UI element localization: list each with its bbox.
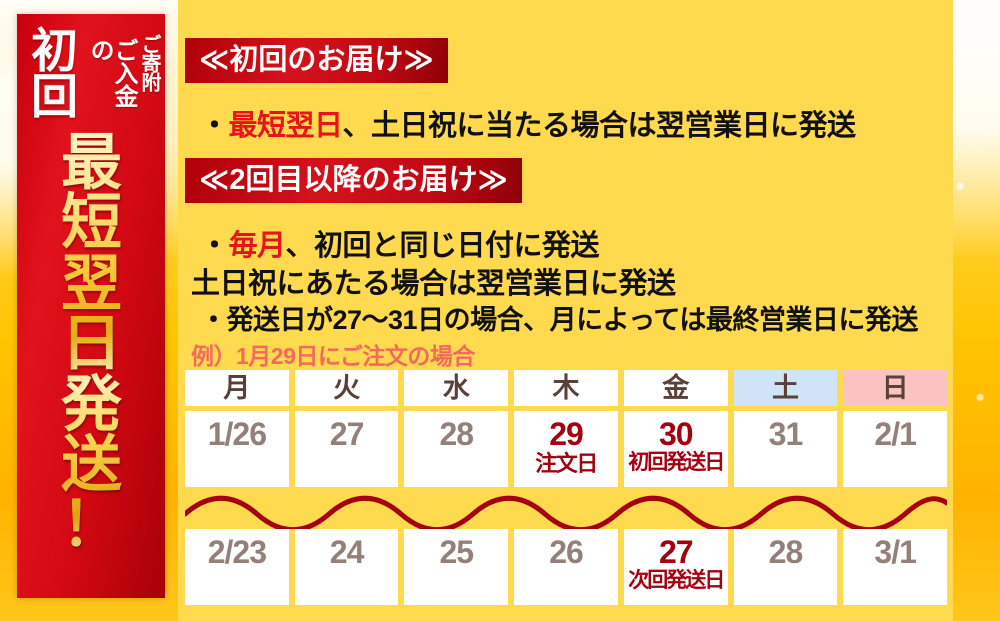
calendar-day-number: 30	[624, 417, 728, 452]
calendar-day-tag-first-shipment: 初回発送日	[624, 452, 728, 474]
weekday-header-fri: 金	[624, 370, 728, 406]
calendar-day-cell: 27	[295, 411, 399, 487]
calendar-day-number: 25	[404, 535, 508, 570]
calendar-day-number: 3/1	[843, 535, 947, 570]
calendar-week-row-2: 2/23 24 25 26 27 次回発送日	[185, 529, 947, 605]
calendar-day-number: 1/26	[185, 417, 289, 452]
headline-char-7: ！	[17, 494, 165, 554]
bullet-subsequent-delivery-3: ・発送日が27〜31日の場合、月によっては最終営業日に発送	[200, 298, 918, 337]
calendar-day-cell-next-shipment: 27 次回発送日	[624, 529, 728, 605]
calendar-day-cell: 3/1	[843, 529, 947, 605]
section-header-subsequent-delivery: ≪2回目以降のお届け≫	[185, 158, 522, 203]
calendar-day-cell: 28	[404, 411, 508, 487]
kicker-donation-label: ご寄附	[139, 34, 159, 91]
headline-char-2: 短	[17, 192, 165, 252]
calendar-day-number: 28	[404, 417, 508, 452]
donation-kicker-block: ご寄附 ご入金の 初回	[17, 28, 165, 124]
calendar-week-row-1: 1/26 27 28 29 注文日 30 初回発送日	[185, 411, 947, 487]
weekday-header-sun: 日	[843, 370, 947, 406]
calendar-day-number: 28	[734, 535, 838, 570]
calendar-day-cell: 31	[734, 411, 838, 487]
bullet-subsequent-delivery-1: ・毎月、初回と同じ日付に発送	[200, 222, 599, 264]
bullet-text: 、土日祝に当たる場合は翌営業日に発送	[343, 110, 856, 142]
bullet-highlight: 最短翌日	[229, 110, 343, 142]
calendar-day-number: 24	[295, 535, 399, 570]
content-panel: ≪初回のお届け≫ ・最短翌日、土日祝に当たる場合は翌営業日に発送 ≪2回目以降の…	[178, 0, 953, 621]
example-calendar: 月 火 水 木 金 土 日 1/26 27 28	[185, 370, 947, 605]
section-header-first-delivery: ≪初回のお届け≫	[185, 38, 448, 83]
headline-char-1: 最	[17, 132, 165, 192]
kicker-payment-label: ご入金の	[87, 38, 135, 124]
calendar-day-cell: 24	[295, 529, 399, 605]
calendar-day-cell: 25	[404, 529, 508, 605]
calendar-day-number: 2/23	[185, 535, 289, 570]
weekday-header-sat: 土	[734, 370, 838, 406]
calendar-day-number: 31	[734, 417, 838, 452]
calendar-day-tag-next-shipment: 次回発送日	[624, 570, 728, 592]
calendar-day-cell: 2/1	[843, 411, 947, 487]
calendar-day-cell-order-date: 29 注文日	[514, 411, 618, 487]
weekday-header-thu: 木	[514, 370, 618, 406]
calendar-day-cell-first-shipment: 30 初回発送日	[624, 411, 728, 487]
calendar-day-cell: 28	[734, 529, 838, 605]
wavy-divider-icon	[185, 487, 947, 529]
poster-root: ご寄附 ご入金の 初回 最 短 翌 日 発 送 ！ ≪初回のお届け≫ ・最短翌日…	[0, 0, 1000, 621]
bullet-marker: ・	[200, 305, 227, 335]
calendar-day-number: 27	[295, 417, 399, 452]
weekday-header-mon: 月	[185, 370, 289, 406]
headline-shortest-next-day-shipping: 最 短 翌 日 発 送 ！	[17, 132, 165, 555]
bullet-text: 土日祝にあたる場合は翌営業日に発送	[191, 268, 676, 300]
weekday-header-wed: 水	[404, 370, 508, 406]
calendar-day-number: 2/1	[843, 417, 947, 452]
calendar-day-cell: 2/23	[185, 529, 289, 605]
bullet-highlight: 毎月	[229, 230, 286, 262]
calendar-day-cell: 1/26	[185, 411, 289, 487]
calendar-day-tag-order-date: 注文日	[514, 452, 618, 475]
calendar-weekday-header-row: 月 火 水 木 金 土 日	[185, 370, 947, 406]
calendar-day-number: 27	[624, 535, 728, 570]
weekday-header-tue: 火	[295, 370, 399, 406]
bullet-subsequent-delivery-2: 土日祝にあたる場合は翌営業日に発送	[191, 260, 676, 302]
left-vertical-banner: ご寄附 ご入金の 初回 最 短 翌 日 発 送 ！	[17, 14, 165, 598]
first-time-label: 初回	[31, 28, 93, 119]
bullet-text: 、初回と同じ日付に発送	[286, 230, 600, 262]
bullet-marker: ・	[200, 110, 229, 142]
example-caption: 例）1月29日にご注文の場合	[191, 337, 475, 371]
headline-char-3: 翌	[17, 253, 165, 313]
calendar-day-cell: 26	[514, 529, 618, 605]
calendar-day-number: 29	[514, 417, 618, 452]
headline-char-4: 日	[17, 313, 165, 373]
bullet-marker: ・	[200, 230, 229, 262]
calendar-day-number: 26	[514, 535, 618, 570]
bullet-text: 発送日が27〜31日の場合、月によっては最終営業日に発送	[227, 305, 918, 335]
headline-char-5: 発	[17, 374, 165, 434]
headline-char-6: 送	[17, 434, 165, 494]
bullet-first-delivery-1: ・最短翌日、土日祝に当たる場合は翌営業日に発送	[200, 102, 856, 144]
